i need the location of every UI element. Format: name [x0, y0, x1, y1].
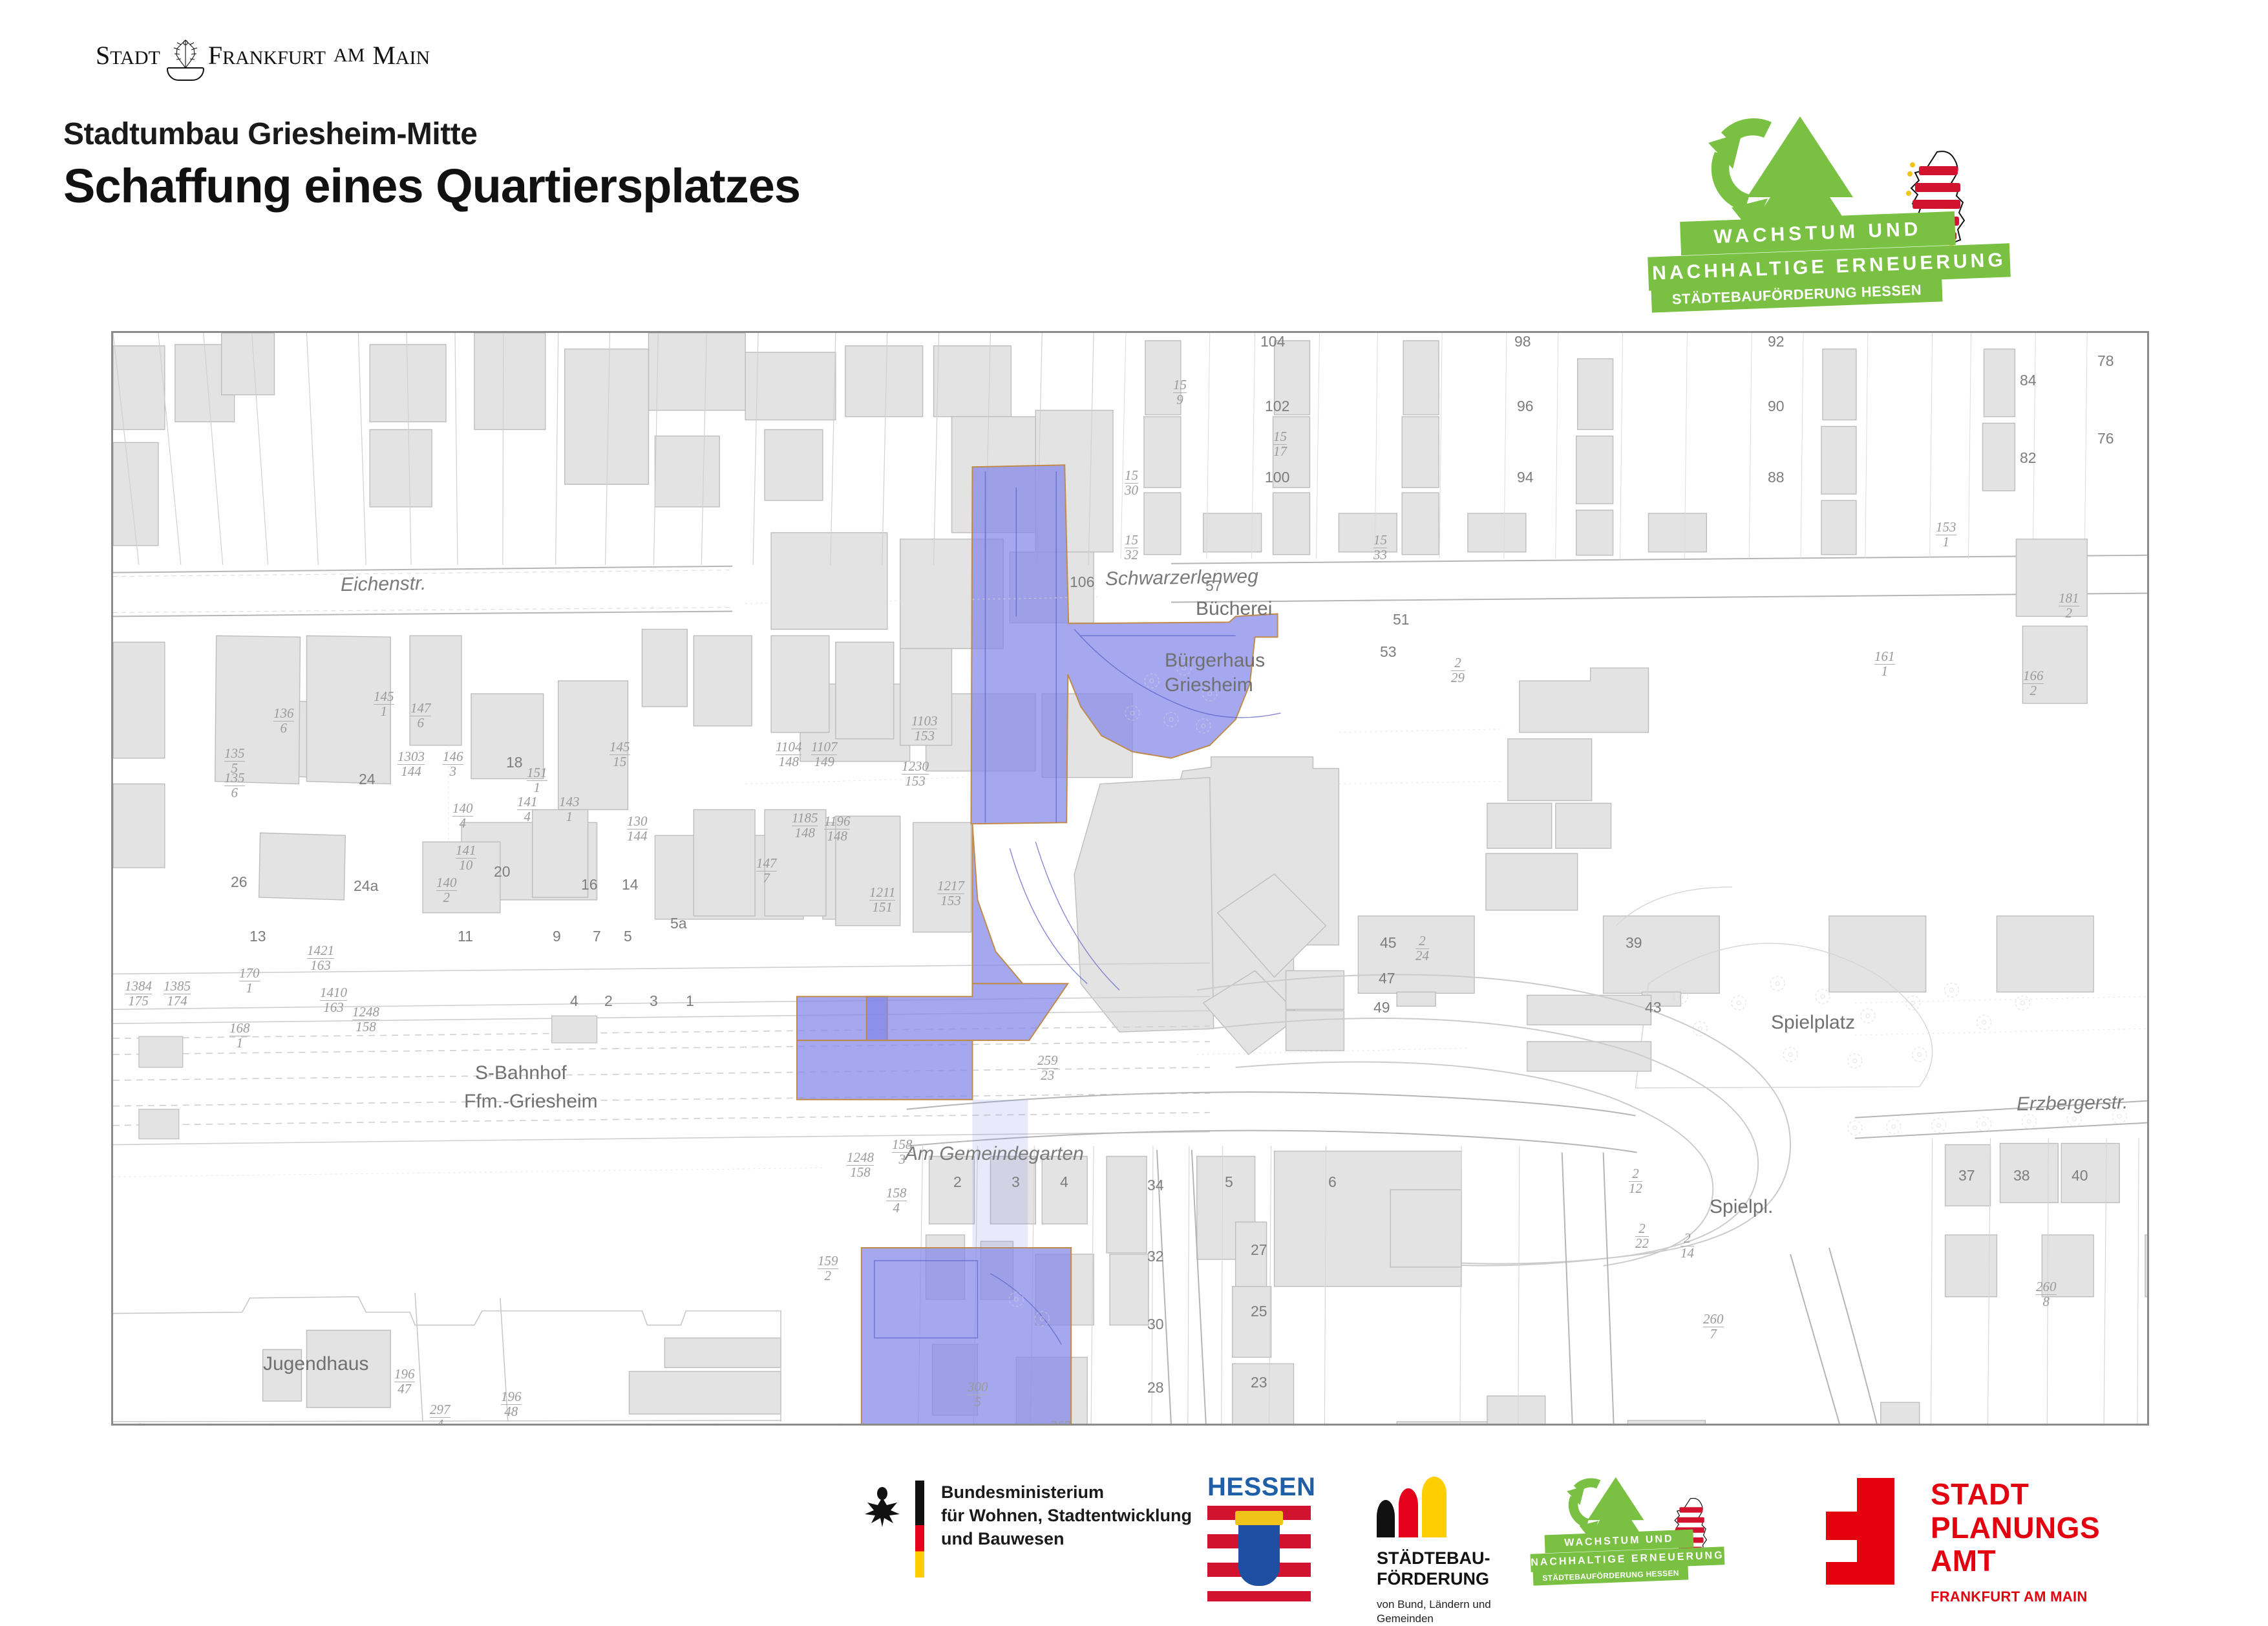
- program-logo-header: WACHSTUM UND NACHHALTIGE ERNEUERUNG STÄD…: [1677, 113, 2130, 268]
- stfoerd-sub-2: Gemeinden: [1377, 1612, 1525, 1626]
- spa-line-2: PLANUNGS: [1931, 1512, 2100, 1545]
- bmwsb-line-2: für Wohnen, Stadtentwicklung: [941, 1504, 1192, 1527]
- city-logo-word-am: AM: [334, 45, 365, 67]
- spa-text: STADT PLANUNGS AMT FRANKFURT AM MAIN: [1931, 1478, 2100, 1605]
- hessen-flag-icon: [1207, 1506, 1311, 1601]
- german-flag-bar-icon: [915, 1481, 924, 1578]
- city-logo-word-stadt: STADT: [96, 40, 160, 70]
- program-logo-footer: WACHSTUM UND NACHHALTIGE ERNEUERUNG STÄD…: [1571, 1474, 1790, 1584]
- map-vector-layer: [113, 333, 2147, 1424]
- page-header: STADT FRANKFURT AM MAIN: [0, 0, 2268, 304]
- city-logo-word-frankfurt: FRANKFURT: [208, 40, 326, 70]
- page-title: Schaffung eines Quartiersplatzes: [63, 158, 800, 213]
- city-logo-word-main: MAIN: [372, 40, 430, 70]
- stfoerd-line-1: STÄDTEBAU-: [1377, 1548, 1525, 1568]
- city-logo: STADT FRANKFURT AM MAIN: [96, 31, 509, 80]
- bundesadler-icon: [860, 1481, 905, 1532]
- spa-line-1: STADT: [1931, 1478, 2100, 1512]
- stfoerd-sub-1: von Bund, Ländern und: [1377, 1598, 1525, 1612]
- bmwsb-line-1: Bundesministerium: [941, 1481, 1192, 1504]
- bmwsb-text: Bundesministerium für Wohnen, Stadtentwi…: [941, 1481, 1192, 1551]
- cadastral-map[interactable]: Eichenstr.SchwarzerlenwegAm Gemeindegart…: [111, 331, 2149, 1426]
- stfoerd-line-2: FÖRDERUNG: [1377, 1568, 1525, 1589]
- frankfurt-eagle-crest-icon: [167, 34, 202, 77]
- hessen-logo: HESSEN: [1207, 1473, 1311, 1601]
- stadtplanungsamt-logo: STADT PLANUNGS AMT FRANKFURT AM MAIN: [1826, 1478, 2100, 1605]
- bmwsb-logo: Bundesministerium für Wohnen, Stadtentwi…: [860, 1481, 1192, 1578]
- funding-logo-bar: Bundesministerium für Wohnen, Stadtentwi…: [0, 1455, 2268, 1603]
- three-house-bars-icon: [1377, 1479, 1525, 1537]
- title-block: Stadtumbau Griesheim-Mitte Schaffung ein…: [63, 116, 800, 213]
- spa-line-3: AMT: [1931, 1545, 2100, 1578]
- project-subtitle: Stadtumbau Griesheim-Mitte: [63, 116, 800, 152]
- spa-block-mark-icon: [1826, 1478, 1903, 1585]
- hessen-wordmark: HESSEN: [1207, 1473, 1311, 1502]
- bmwsb-line-3: und Bauwesen: [941, 1527, 1192, 1550]
- spa-line-4: FRANKFURT AM MAIN: [1931, 1589, 2100, 1605]
- staedtebaufoerderung-logo: STÄDTEBAU- FÖRDERUNG von Bund, Ländern u…: [1377, 1479, 1525, 1626]
